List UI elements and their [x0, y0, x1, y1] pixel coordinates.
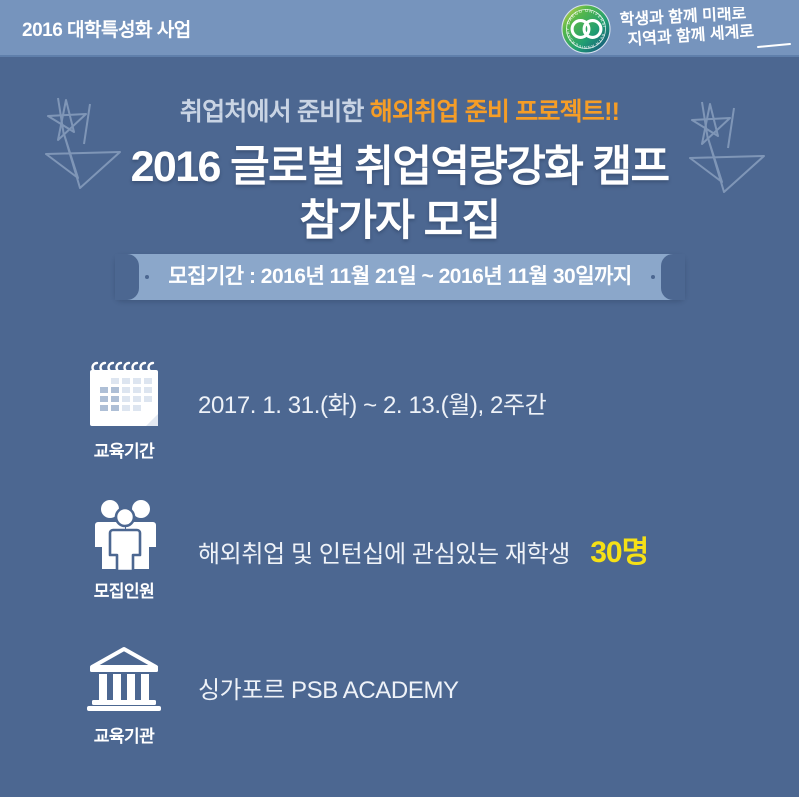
- page-title: 2016 대학특성화 사업: [22, 15, 191, 42]
- info-icon-art: [62, 640, 186, 718]
- info-row-institution: 교육기관 싱가포르 PSB ACADEMY: [0, 640, 799, 755]
- info-icon-box: 교육기관: [62, 640, 186, 747]
- info-row-text: 해외취업 및 인턴십에 관심있는 재학생 30명: [198, 527, 648, 571]
- people-group-icon: [84, 496, 164, 572]
- hero-title: 2016 글로벌 취업역량강화 캠프 참가자 모집: [0, 140, 799, 248]
- info-icon-box: 교육기간: [62, 355, 186, 462]
- anniversary-emblem-icon: DAEGU UNIVERSITY 60TH ANNIVERSARY: [560, 3, 612, 55]
- info-icon-label: 모집인원: [62, 577, 186, 602]
- info-row-text-main: 2017. 1. 31.(화) ~ 2. 13.(월), 2주간: [198, 392, 546, 419]
- info-icon-art: [62, 355, 186, 433]
- logo-slogan-handwriting: 학생과 함께 미래로 지역과 함께 세계로: [618, 7, 793, 51]
- hero-subtitle-accent: 해외취업 준비 프로젝트!!: [370, 98, 619, 126]
- info-icon-label: 교육기간: [62, 437, 186, 462]
- info-row-text: 싱가포르 PSB ACADEMY: [198, 670, 459, 705]
- hero-subtitle-plain: 취업처에서 준비한: [180, 98, 364, 126]
- hero-subtitle: 취업처에서 준비한 해외취업 준비 프로젝트!!: [0, 92, 799, 128]
- hero-title-line-1: 2016 글로벌 취업역량강화 캠프: [0, 140, 799, 194]
- poster-canvas: 2016 대학특성화 사업: [0, 0, 799, 797]
- hero-title-line-2: 참가자 모집: [0, 194, 799, 248]
- info-row-training-period: 교육기간 2017. 1. 31.(화) ~ 2. 13.(월), 2주간: [0, 355, 799, 465]
- institution-building-icon: [84, 644, 164, 714]
- info-icon-label: 교육기관: [62, 722, 186, 747]
- recruitment-period-text: 모집기간 : 2016년 11월 21일 ~ 2016년 11월 30일까지: [115, 254, 685, 300]
- recruitment-period-ribbon: 모집기간 : 2016년 11월 21일 ~ 2016년 11월 30일까지: [115, 254, 685, 300]
- recruitment-count-badge: 30명: [590, 536, 648, 569]
- info-row-text-main: 싱가포르 PSB ACADEMY: [198, 677, 459, 704]
- info-row-text: 2017. 1. 31.(화) ~ 2. 13.(월), 2주간: [198, 385, 546, 420]
- header-bar: 2016 대학특성화 사업: [0, 0, 799, 57]
- info-row-recruitment-count: 모집인원 해외취업 및 인턴십에 관심있는 재학생 30명: [0, 495, 799, 613]
- university-logo: DAEGU UNIVERSITY 60TH ANNIVERSARY 학생과 함께…: [560, 2, 795, 55]
- info-row-text-main: 해외취업 및 인턴십에 관심있는 재학생: [198, 541, 570, 568]
- info-icon-art: [62, 495, 186, 573]
- info-icon-box: 모집인원: [62, 495, 186, 602]
- calendar-icon: [86, 358, 162, 430]
